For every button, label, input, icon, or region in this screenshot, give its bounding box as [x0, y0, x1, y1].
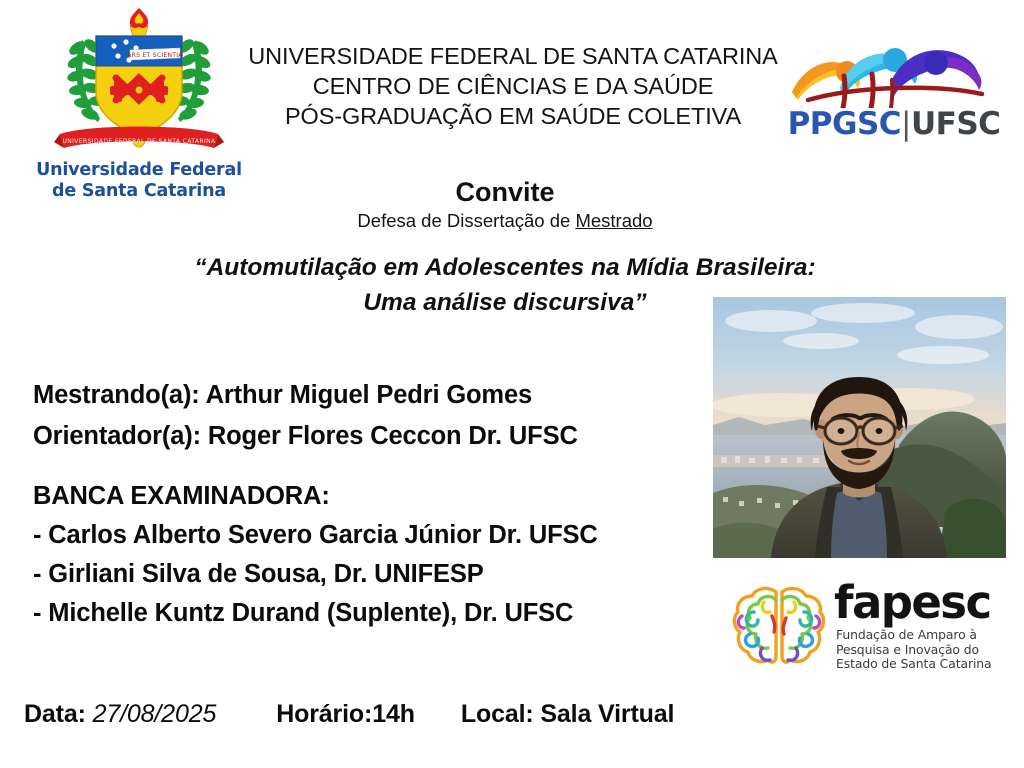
participant-details: Mestrando(a): Arthur Miguel Pedri Gomes …: [33, 375, 693, 457]
event-date: Data: 27/08/2025: [24, 700, 216, 729]
committee-block: BANCA EXAMINADORA: - Carlos Alberto Seve…: [33, 477, 713, 633]
institution-header: UNIVERSIDADE FEDERAL DE SANTA CATARINA C…: [248, 41, 778, 131]
invitation-subtitle-underlined: Mestrado: [575, 210, 652, 231]
thesis-title-line1: “Automutilação em Adolescentes na Mídia …: [0, 250, 1010, 285]
committee-member: - Girliani Silva de Sousa, Dr. UNIFESP: [33, 555, 713, 594]
invitation-subtitle: Defesa de Dissertação de Mestrado: [0, 209, 1010, 232]
ppgsc-wordmark: PPGSC|UFSC: [780, 106, 1008, 142]
ppgsc-word-divider: |: [901, 106, 911, 142]
ppgsc-ufsc-logo: PPGSC|UFSC: [780, 30, 1008, 148]
invitation-heading: Convite: [0, 176, 1010, 208]
fapesc-tagline-line3: Estado de Santa Catarina: [836, 657, 992, 672]
event-date-separator: :: [78, 700, 93, 728]
committee-member: - Michelle Kuntz Durand (Suplente), Dr. …: [33, 594, 713, 633]
candidate-photo-image: [713, 297, 1006, 558]
event-place: Local: Sala Virtual: [461, 700, 674, 729]
advisor-name: Roger Flores Ceccon Dr. UFSC: [208, 422, 578, 450]
brain-icon: [730, 582, 828, 668]
event-footer: Data: 27/08/2025Horário:14hLocal: Sala V…: [24, 700, 784, 729]
fapesc-tagline-line2: Pesquisa e Inovação do: [836, 643, 992, 658]
fapesc-logo: fapesc Fundação de Amparo à Pesquisa e I…: [730, 580, 1005, 672]
header-line-university: UNIVERSIDADE FEDERAL DE SANTA CATARINA: [248, 41, 778, 71]
header-line-program: PÓS-GRADUAÇÃO EM SAÚDE COLETIVA: [248, 101, 778, 131]
fapesc-tagline-line1: Fundação de Amparo à: [836, 628, 992, 643]
header-line-center: CENTRO DE CIÊNCIAS E DA SAÚDE: [248, 71, 778, 101]
advisor-label: Orientador(a):: [33, 422, 208, 450]
ppgsc-figures-icon: [786, 30, 1002, 108]
invitation-block: Convite Defesa de Dissertação de Mestrad…: [0, 176, 1010, 232]
invitation-subtitle-prefix: Defesa de Dissertação de: [357, 210, 575, 231]
ufsc-coat-of-arms-icon: ARS ET SCIENTIA UNIVERSIDADE FEDERAL DE …: [30, 8, 248, 158]
student-label: Mestrando(a):: [33, 381, 206, 409]
svg-text:ARS ET SCIENTIA: ARS ET SCIENTIA: [127, 52, 183, 59]
ppgsc-word-primary: PPGSC: [788, 106, 901, 142]
fapesc-tagline: Fundação de Amparo à Pesquisa e Inovação…: [836, 628, 992, 672]
committee-member: - Carlos Alberto Severo Garcia Júnior Dr…: [33, 516, 713, 555]
student-name: Arthur Miguel Pedri Gomes: [206, 381, 532, 409]
fapesc-wordmark: fapesc: [834, 580, 991, 626]
ppgsc-word-secondary: UFSC: [911, 106, 1000, 142]
advisor-row: Orientador(a): Roger Flores Ceccon Dr. U…: [33, 416, 693, 457]
student-row: Mestrando(a): Arthur Miguel Pedri Gomes: [33, 375, 693, 416]
event-date-value: 27/08/2025: [93, 700, 217, 728]
svg-text:UNIVERSIDADE FEDERAL DE SAN: UNIVERSIDADE FEDERAL DE SANTA CATARINA: [62, 138, 216, 145]
committee-heading: BANCA EXAMINADORA:: [33, 477, 713, 516]
invitation-poster: ARS ET SCIENTIA UNIVERSIDADE FEDERAL DE …: [0, 0, 1024, 768]
event-date-label: Data: [24, 700, 78, 728]
event-time: Horário:14h: [276, 700, 415, 729]
candidate-photo: [713, 297, 1006, 558]
